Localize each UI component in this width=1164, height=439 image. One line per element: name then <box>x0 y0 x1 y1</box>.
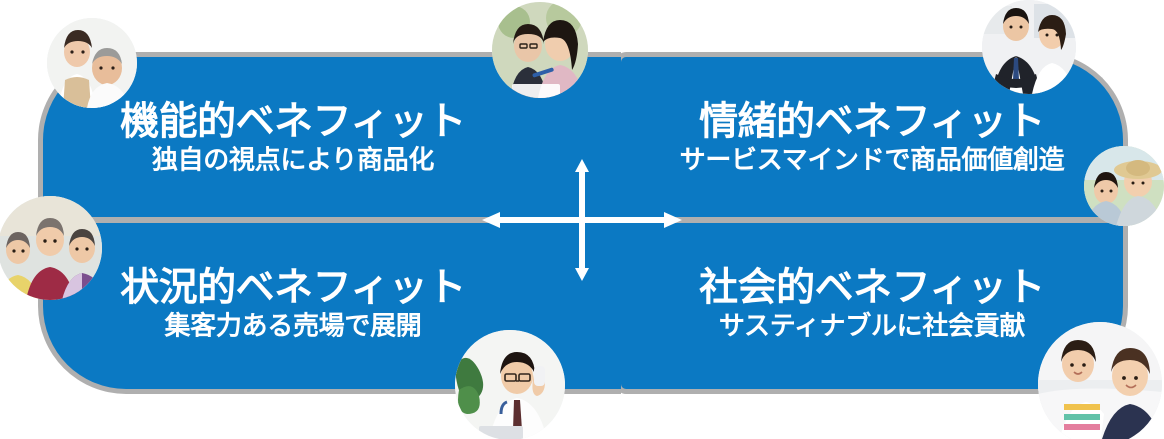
quadrant-social-title: 社会的ベネフィット <box>635 268 1109 309</box>
photo-mother-and-child-outdoors <box>1084 146 1164 226</box>
photo-caregiver-and-senior-man <box>47 18 137 108</box>
quadrant-situational-content: 状況的ベネフィット 集客力ある売場で展開 <box>43 268 543 341</box>
quadrant-functional-subtitle: 独自の視点により商品化 <box>57 146 529 175</box>
quadrant-emotional-title: 情緒的ベネフィット <box>635 102 1109 143</box>
quadrant-situational-title: 状況的ベネフィット <box>57 268 529 309</box>
horizontal-divider <box>43 217 1121 223</box>
quadrant-social-content: 社会的ベネフィット サスティナブルに社会貢献 <box>621 268 1123 341</box>
photo-mother-and-young-girl <box>1038 322 1162 439</box>
quadrant-functional-content: 機能的ベネフィット 独自の視点により商品化 <box>43 102 543 175</box>
quadrant-emotional-content: 情緒的ベネフィット サービスマインドで商品価値創造 <box>621 102 1123 175</box>
photo-three-senior-women <box>0 196 102 300</box>
quadrant-situational-subtitle: 集客力ある売場で展開 <box>57 312 529 341</box>
quadrant-functional-title: 機能的ベネフィット <box>57 102 529 143</box>
quadrant-emotional-subtitle: サービスマインドで商品価値創造 <box>635 146 1109 175</box>
quadrant-social-subtitle: サスティナブルに社会貢献 <box>635 312 1109 341</box>
photo-two-students-studying <box>492 2 588 98</box>
benefit-matrix-diagram: 機能的ベネフィット 独自の視点により商品化 情緒的ベネフィット サービスマインド… <box>0 0 1164 439</box>
photo-businessman-and-businesswoman <box>982 0 1076 94</box>
photo-office-worker-on-phone <box>455 330 565 439</box>
